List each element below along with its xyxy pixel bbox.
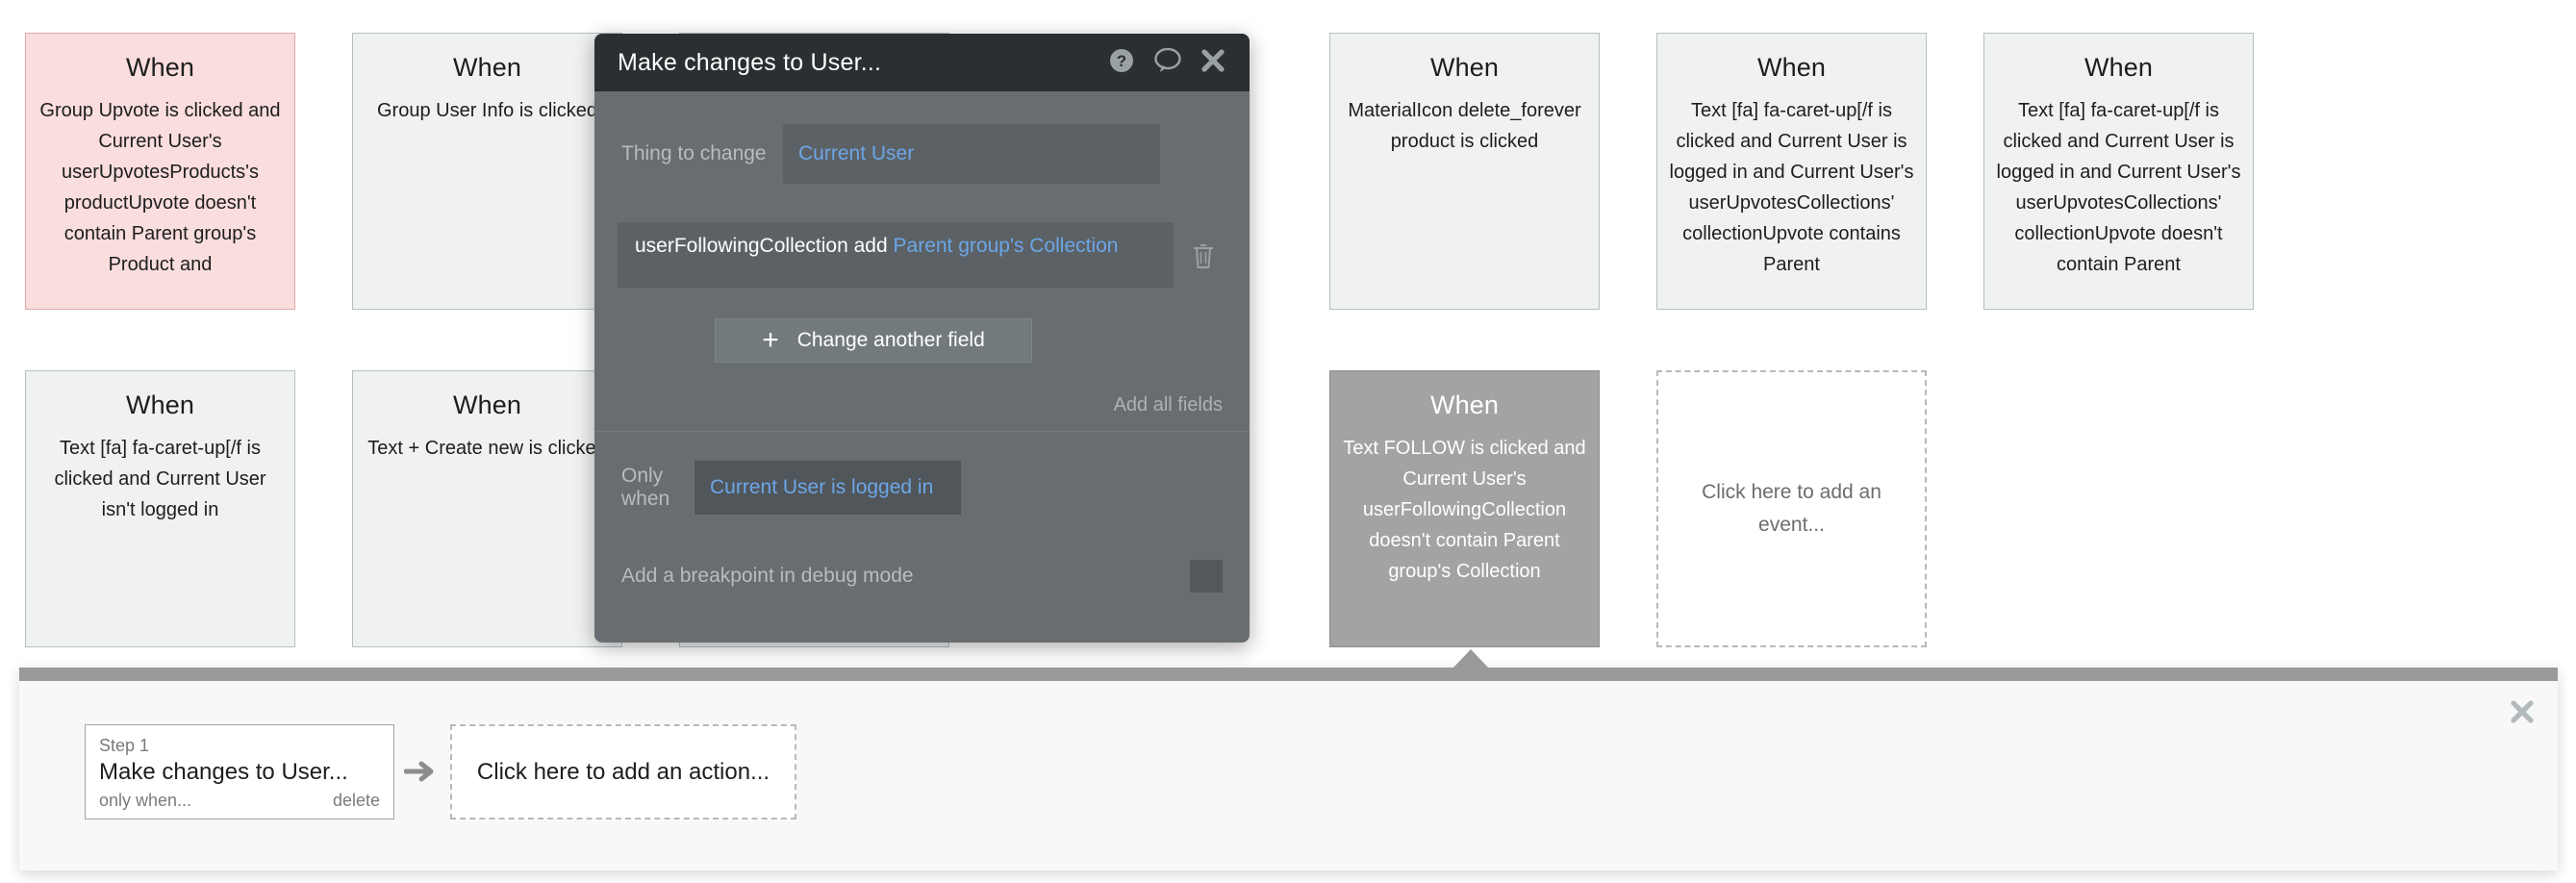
action-panel-topbar (19, 668, 2558, 681)
event-card[interactable]: When Group Upvote is clicked and Current… (25, 33, 295, 310)
event-card-body: Group User Info is clicked (363, 95, 612, 126)
step-title: Make changes to User... (99, 756, 380, 789)
add-event-label: Click here to add an event... (1683, 476, 1900, 542)
add-all-fields-link[interactable]: Add all fields (1114, 394, 1223, 416)
arrow-right-icon (404, 757, 437, 786)
help-circle-icon[interactable]: ? (1108, 47, 1135, 79)
trash-icon[interactable] (1191, 241, 1216, 270)
event-card-heading: When (1340, 389, 1589, 421)
event-card-heading: When (36, 51, 285, 84)
field-change-value: Parent group's Collection (894, 235, 1119, 257)
field-change-name: userFollowingCollection (635, 235, 848, 257)
panel-pointer-triangle (1452, 649, 1489, 669)
event-card-selected[interactable]: When Text FOLLOW is clicked and Current … (1329, 370, 1600, 647)
event-card-body: Text FOLLOW is clicked and Current User'… (1340, 433, 1589, 587)
field-change-input[interactable]: userFollowingCollection add Parent group… (618, 222, 1174, 288)
add-event-placeholder[interactable]: Click here to add an event... (1656, 370, 1927, 647)
breakpoint-label: Add a breakpoint in debug mode (621, 565, 1190, 588)
close-icon[interactable] (2510, 699, 2535, 729)
event-card[interactable]: When Text + Create new is clicked (352, 370, 622, 647)
close-icon[interactable] (1200, 48, 1225, 78)
action-step-card[interactable]: Step 1 Make changes to User... only when… (85, 724, 394, 820)
step-delete-link[interactable]: delete (333, 791, 380, 811)
event-card-body: Text [fa] fa-caret-up[/f is clicked and … (1994, 95, 2243, 280)
event-card-body: Text + Create new is clicked (363, 433, 612, 464)
step-only-when-link[interactable]: only when... (99, 791, 191, 811)
modal-divider (594, 431, 1250, 432)
event-canvas: When Group Upvote is clicked and Current… (0, 0, 2576, 664)
step-number-label: Step 1 (99, 735, 380, 756)
event-card[interactable]: When Group User Info is clicked (352, 33, 622, 310)
event-card-body: Text [fa] fa-caret-up[/f is clicked and … (36, 433, 285, 525)
only-when-label: Only when (621, 465, 695, 511)
action-panel: Step 1 Make changes to User... only when… (19, 668, 2558, 870)
add-action-label: Click here to add an action... (477, 759, 770, 786)
step-footer: only when... delete (99, 791, 380, 811)
thing-to-change-input[interactable]: Current User (783, 124, 1160, 184)
modal-title: Make changes to User... (618, 48, 1108, 77)
event-card[interactable]: When Text [fa] fa-caret-up[/f is clicked… (1983, 33, 2254, 310)
event-card-heading: When (1994, 51, 2243, 84)
property-editor-modal: Make changes to User... ? (594, 34, 1250, 643)
event-card-heading: When (1667, 51, 1916, 84)
event-card-heading: When (1340, 51, 1589, 84)
modal-header-icons: ? (1108, 47, 1225, 79)
thing-to-change-label: Thing to change (621, 142, 783, 165)
only-when-input[interactable]: Current User is logged in (695, 461, 961, 515)
plus-icon: + (762, 330, 779, 351)
change-another-field-button[interactable]: + Change another field (715, 318, 1032, 363)
event-card-body: Group Upvote is clicked and Current User… (36, 95, 285, 280)
modal-header: Make changes to User... ? (594, 34, 1250, 91)
modal-body: Thing to change Current User userFollowi… (594, 91, 1250, 643)
event-card[interactable]: When Text [fa] fa-caret-up[/f is clicked… (25, 370, 295, 647)
event-card-heading: When (363, 389, 612, 421)
event-card[interactable]: When Text [fa] fa-caret-up[/f is clicked… (1656, 33, 1927, 310)
event-card-body: MaterialIcon delete_forever product is c… (1340, 95, 1589, 157)
event-card[interactable]: When MaterialIcon delete_forever product… (1329, 33, 1600, 310)
change-another-field-label: Change another field (797, 329, 985, 352)
event-card-heading: When (363, 51, 612, 84)
event-card-body: Text [fa] fa-caret-up[/f is clicked and … (1667, 95, 1916, 280)
speech-bubble-icon[interactable] (1153, 47, 1182, 79)
event-card-heading: When (36, 389, 285, 421)
field-change-operator: add (854, 235, 888, 257)
thing-to-change-row: Thing to change Current User (594, 124, 1250, 184)
svg-text:?: ? (1117, 52, 1126, 70)
breakpoint-checkbox[interactable] (1190, 560, 1223, 593)
add-action-placeholder[interactable]: Click here to add an action... (450, 724, 796, 820)
breakpoint-row: Add a breakpoint in debug mode (594, 560, 1250, 593)
only-when-row: Only when Current User is logged in (594, 461, 1250, 515)
